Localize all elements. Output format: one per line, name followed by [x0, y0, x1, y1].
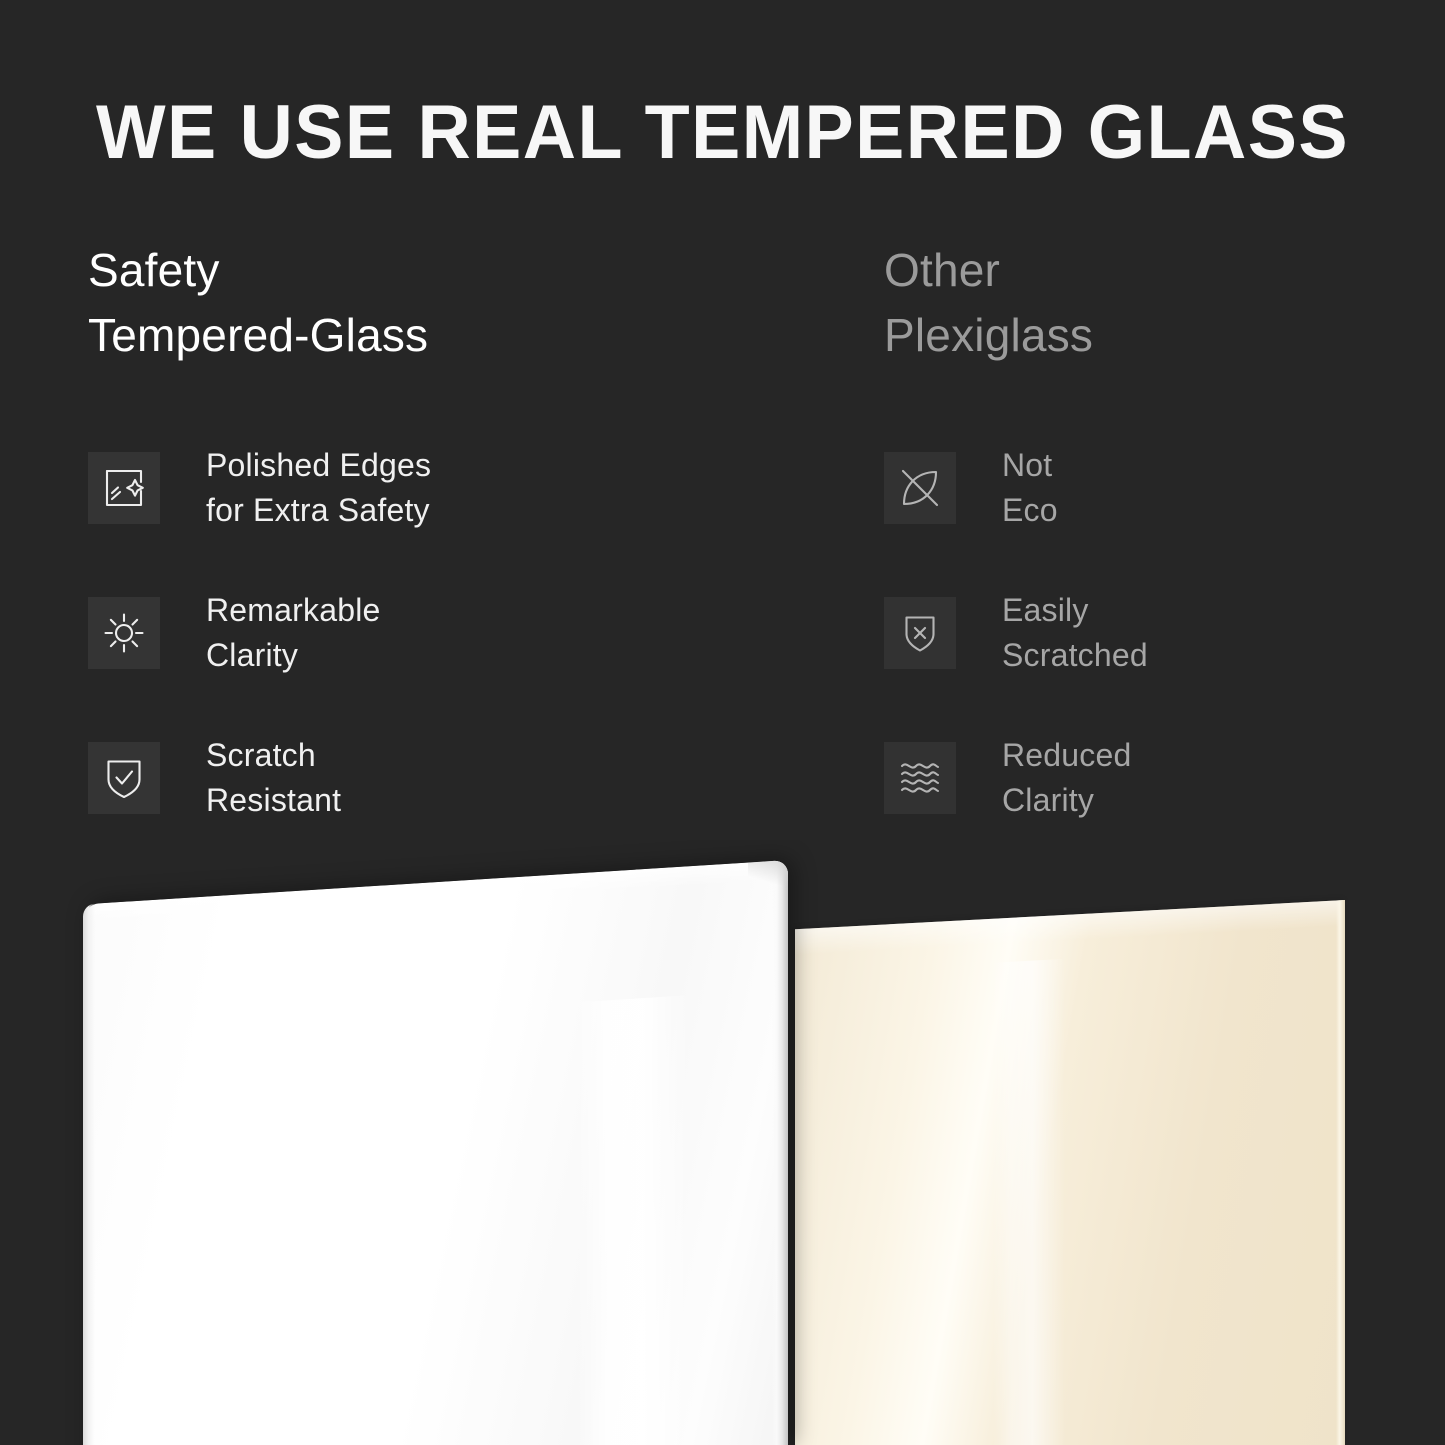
- feature-label: Remarkable Clarity: [206, 588, 381, 679]
- column-safety-tempered-glass: Safety Tempered-Glass Polished Edges for…: [88, 238, 788, 369]
- shield-check-icon: [88, 742, 160, 814]
- feature-row: Easily Scratched: [884, 597, 1444, 669]
- glass-panels-photo: [0, 840, 1445, 1445]
- feature-row: Not Eco: [884, 452, 1444, 524]
- column-heading-safety-tempered-glass: Safety Tempered-Glass: [88, 238, 788, 369]
- feature-label: Scratch Resistant: [206, 733, 341, 824]
- page-title: WE USE REAL TEMPERED GLASS: [22, 93, 1424, 173]
- polished-glass-pane-sparkle-icon: [88, 452, 160, 524]
- plexiglass-panel-edge: [1336, 900, 1345, 1445]
- feature-label: Reduced Clarity: [1002, 733, 1132, 824]
- tempered-glass-panel-sheen: [577, 995, 690, 1445]
- leaf-crossed-out-icon: [884, 452, 956, 524]
- plexiglass-panel-sheen: [993, 959, 1065, 1445]
- feature-label: Easily Scratched: [1002, 588, 1148, 679]
- feature-list-safety-tempered-glass: Polished Edges for Extra Safety: [88, 452, 788, 814]
- feature-row: Remarkable Clarity: [88, 597, 788, 669]
- sun-clarity-icon: [88, 597, 160, 669]
- tempered-glass-comparison-infographic: WE USE REAL TEMPERED GLASS Safety Temper…: [0, 0, 1445, 1445]
- shield-x-icon: [884, 597, 956, 669]
- tempered-glass-panel-left-edge: [83, 904, 95, 1445]
- column-heading-other-plexiglass: Other Plexiglass: [884, 238, 1444, 369]
- tempered-glass-panel-right-edge: [772, 860, 788, 1445]
- feature-row: Polished Edges for Extra Safety: [88, 452, 788, 524]
- feature-list-other-plexiglass: Not Eco Easily Scratched: [884, 452, 1444, 814]
- tempered-glass-panel-corner-highlight: [748, 860, 788, 889]
- wavy-lines-icon: [884, 742, 956, 814]
- feature-row: Scratch Resistant: [88, 742, 788, 814]
- plexiglass-panel: [795, 900, 1345, 1445]
- tempered-glass-panel: [83, 860, 788, 1445]
- feature-label: Not Eco: [1002, 443, 1058, 534]
- column-other-plexiglass: Other Plexiglass Not Eco: [884, 238, 1444, 369]
- feature-row: Reduced Clarity: [884, 742, 1444, 814]
- feature-label: Polished Edges for Extra Safety: [206, 443, 431, 534]
